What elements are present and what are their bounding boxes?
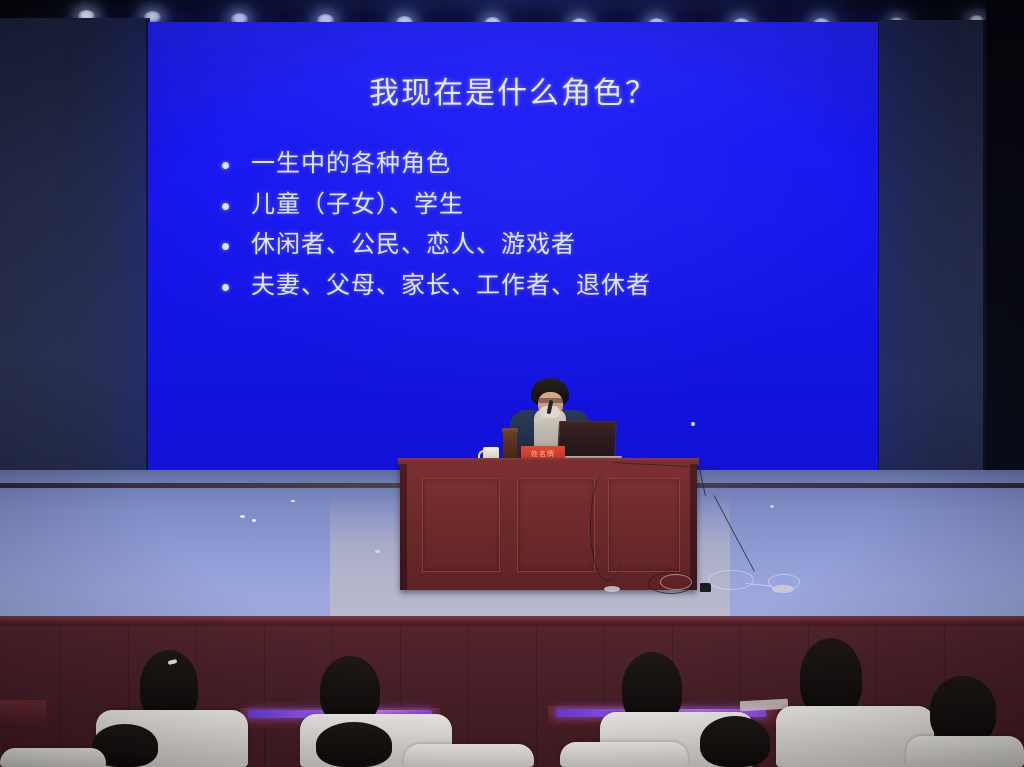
floor-sparkle bbox=[375, 550, 380, 553]
audience-chair bbox=[0, 748, 106, 767]
list-item: 夫妻、父母、家长、工作者、退休者 bbox=[222, 272, 838, 300]
list-item: 休闲者、公民、恋人、游戏者 bbox=[222, 231, 838, 259]
bullet-dot-icon bbox=[222, 284, 229, 291]
bullet-text: 一生中的各种角色 bbox=[251, 150, 451, 178]
desk-leg bbox=[690, 464, 697, 590]
audience-desk bbox=[0, 700, 46, 724]
back-wall-panel-right bbox=[878, 20, 986, 470]
back-wall-dark-right bbox=[986, 0, 1024, 480]
back-wall-panel-left bbox=[0, 18, 150, 470]
floor-sparkle bbox=[240, 515, 245, 518]
audience-person-head bbox=[700, 716, 770, 767]
laptop-screen bbox=[557, 421, 617, 459]
bullet-dot-icon bbox=[222, 162, 229, 169]
floor-sparkle bbox=[770, 505, 774, 508]
bullet-text: 儿童（子女）、学生 bbox=[251, 191, 464, 219]
bullet-dot-icon bbox=[222, 243, 229, 250]
audience-chair bbox=[404, 744, 534, 767]
desk-panel bbox=[422, 478, 500, 572]
audience-chair bbox=[560, 742, 688, 767]
bullet-text: 夫妻、父母、家长、工作者、退休者 bbox=[251, 272, 651, 300]
lecture-hall-photo: 我现在是什么角色？ 一生中的各种角色 儿童（子女）、学生 休闲者、公民、恋人、游… bbox=[0, 0, 1024, 767]
screen-speck bbox=[691, 422, 695, 426]
slide-bullet-list: 一生中的各种角色 儿童（子女）、学生 休闲者、公民、恋人、游戏者 夫妻、父母、家… bbox=[222, 150, 838, 312]
audience-person-head bbox=[800, 638, 862, 716]
bullet-text: 休闲者、公民、恋人、游戏者 bbox=[251, 231, 576, 259]
audience-chair bbox=[906, 736, 1024, 767]
list-item: 一生中的各种角色 bbox=[222, 150, 838, 178]
desk-leg bbox=[400, 464, 407, 590]
stage-front-edge bbox=[0, 616, 1024, 626]
floor-sparkle bbox=[252, 519, 256, 522]
projection-screen: 我现在是什么角色？ 一生中的各种角色 儿童（子女）、学生 休闲者、公民、恋人、游… bbox=[148, 22, 878, 470]
audience-person-head bbox=[930, 676, 996, 744]
floor-cable-cover bbox=[604, 586, 620, 592]
floor-sparkle bbox=[291, 500, 295, 502]
hanging-cable bbox=[590, 470, 625, 581]
cable-coil bbox=[660, 574, 692, 590]
desk-panel bbox=[517, 478, 595, 572]
lectern-desk bbox=[400, 462, 697, 590]
wall-column-far-right bbox=[983, 20, 986, 470]
cable-loop bbox=[708, 570, 754, 590]
audience-person-head bbox=[316, 722, 392, 767]
slide-title: 我现在是什么角色？ bbox=[148, 68, 878, 112]
bullet-dot-icon bbox=[222, 203, 229, 210]
list-item: 儿童（子女）、学生 bbox=[222, 191, 838, 219]
floor-cable-cover bbox=[772, 585, 794, 593]
